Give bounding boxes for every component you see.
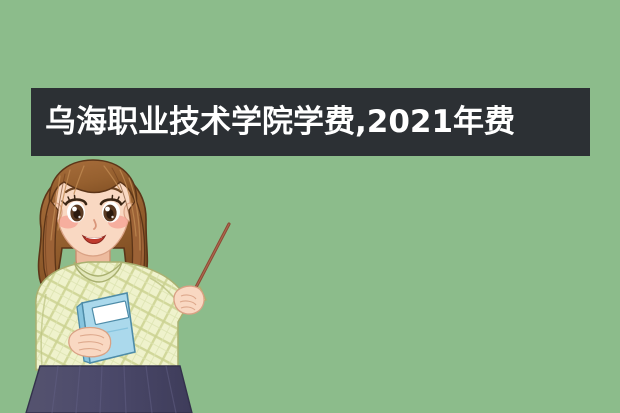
teacher-illustration xyxy=(0,156,620,413)
right-hand xyxy=(174,286,204,314)
page-title: 乌海职业技术学院学费,2021年费 xyxy=(45,107,515,138)
title-banner: 乌海职业技术学院学费,2021年费 xyxy=(31,88,590,156)
left-hand xyxy=(69,328,111,357)
skirt xyxy=(26,366,192,413)
screenshot-root: 乌海职业技术学院学费,2021年费 xyxy=(0,0,620,413)
pointer-stick xyxy=(193,224,229,293)
